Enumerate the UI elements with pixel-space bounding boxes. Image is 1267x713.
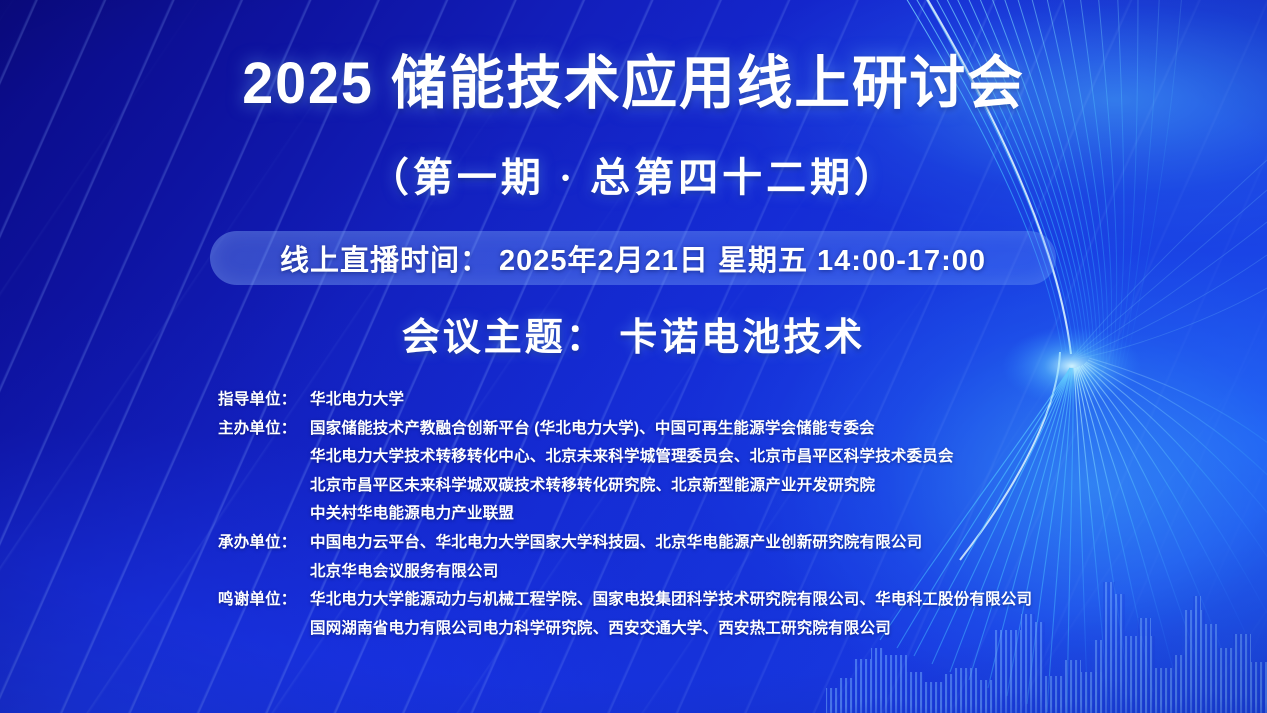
credit-label: 鸣谢单位： xyxy=(218,586,310,615)
credit-row: 鸣谢单位：华北电力大学能源动力与机械工程学院、国家电投集团科学技术研究院有限公司… xyxy=(218,586,1178,643)
poster-subtitle: （第一期 · 总第四十二期） xyxy=(0,145,1267,203)
credit-line: 国家储能技术产教融合创新平台 (华北电力大学)、中国可再生能源学会储能专委会 xyxy=(310,415,954,444)
poster-title: 2025 储能技术应用线上研讨会 xyxy=(25,54,1241,115)
credit-line: 华北电力大学能源动力与机械工程学院、国家电投集团科学技术研究院有限公司、华电科工… xyxy=(310,586,1032,615)
credit-line-group: 中国电力云平台、华北电力大学国家大学科技园、北京华电能源产业创新研究院有限公司北… xyxy=(310,529,922,586)
credit-line: 中国电力云平台、华北电力大学国家大学科技园、北京华电能源产业创新研究院有限公司 xyxy=(310,529,922,558)
live-time-text: 线上直播时间： 2025年2月21日 星期五 14:00-17:00 xyxy=(210,231,1056,285)
poster-content: 2025 储能技术应用线上研讨会 （第一期 · 总第四十二期） 线上直播时间： … xyxy=(0,0,1267,713)
credit-line-group: 华北电力大学 xyxy=(310,386,404,415)
credit-line-group: 国家储能技术产教融合创新平台 (华北电力大学)、中国可再生能源学会储能专委会华北… xyxy=(310,415,954,529)
conference-theme: 会议主题： 卡诺电池技术 xyxy=(0,306,1267,361)
credit-line: 中关村华电能源电力产业联盟 xyxy=(310,500,954,529)
credit-line: 北京华电会议服务有限公司 xyxy=(310,558,922,587)
credit-label: 承办单位： xyxy=(218,529,310,558)
credit-row: 指导单位：华北电力大学 xyxy=(218,386,1178,415)
webinar-poster: 2025 储能技术应用线上研讨会 （第一期 · 总第四十二期） 线上直播时间： … xyxy=(0,0,1267,713)
credit-line-group: 华北电力大学能源动力与机械工程学院、国家电投集团科学技术研究院有限公司、华电科工… xyxy=(310,586,1032,643)
credit-label: 指导单位： xyxy=(218,386,310,415)
credit-label: 主办单位： xyxy=(218,415,310,444)
credit-line: 国网湖南省电力有限公司电力科学研究院、西安交通大学、西安热工研究院有限公司 xyxy=(310,615,1032,644)
credit-line: 华北电力大学技术转移转化中心、北京未来科学城管理委员会、北京市昌平区科学技术委员… xyxy=(310,443,954,472)
organizer-credits: 指导单位：华北电力大学主办单位：国家储能技术产教融合创新平台 (华北电力大学)、… xyxy=(218,386,1178,643)
credit-line: 北京市昌平区未来科学城双碳技术转移转化研究院、北京新型能源产业开发研究院 xyxy=(310,472,954,501)
credit-row: 主办单位：国家储能技术产教融合创新平台 (华北电力大学)、中国可再生能源学会储能… xyxy=(218,415,1178,529)
credit-row: 承办单位：中国电力云平台、华北电力大学国家大学科技园、北京华电能源产业创新研究院… xyxy=(218,529,1178,586)
credit-line: 华北电力大学 xyxy=(310,386,404,415)
